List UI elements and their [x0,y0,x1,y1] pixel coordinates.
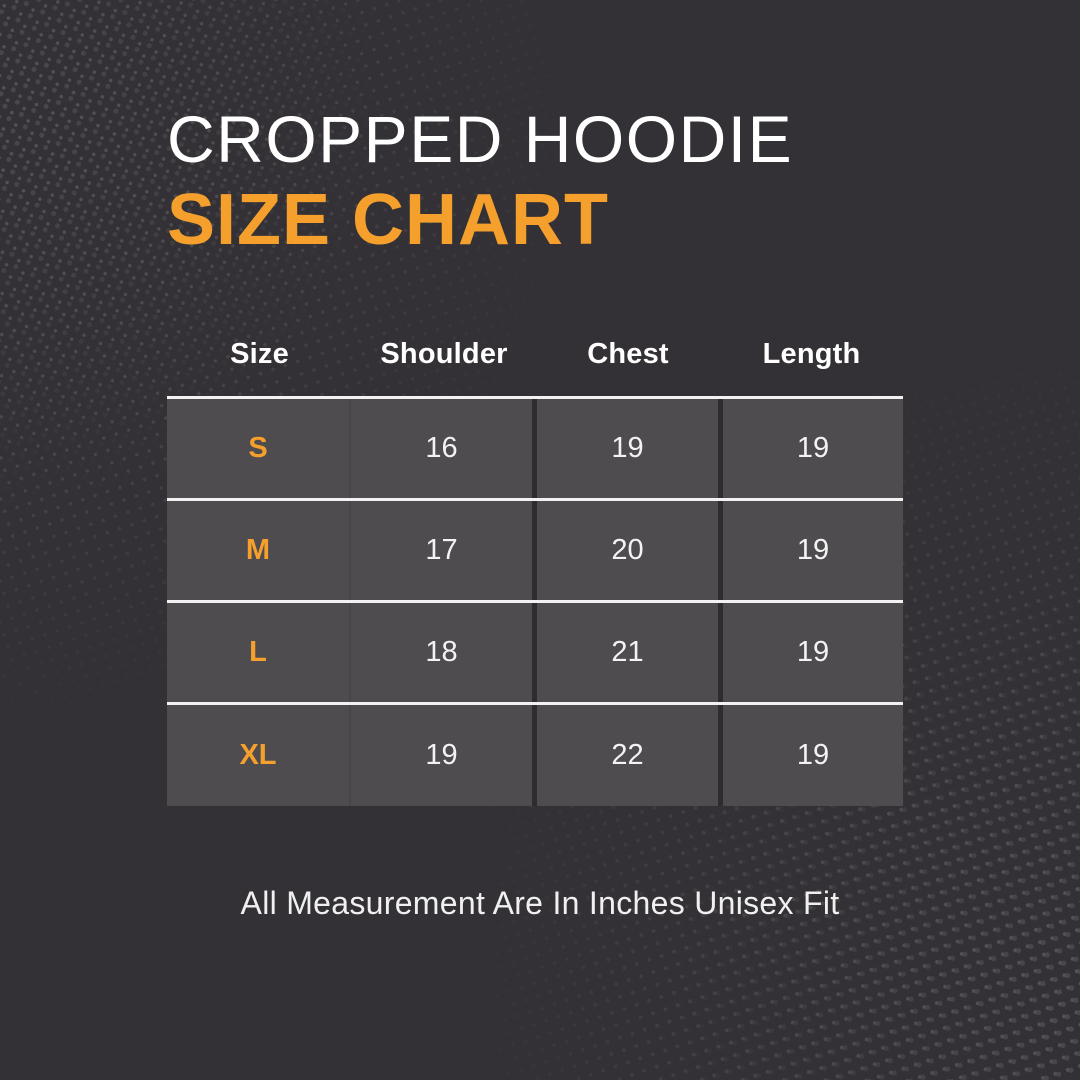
table-row: XL 19 22 19 [167,705,903,806]
cell-chest: 19 [532,399,718,498]
title-size-chart: SIZE CHART [167,184,1027,256]
page-title: CROPPED HOODIE SIZE CHART [167,106,1027,256]
cell-length: 19 [718,705,903,806]
column-header-size: Size [167,338,352,371]
cell-shoulder: 17 [349,501,532,600]
cell-chest: 22 [532,705,718,806]
size-chart-table: Size Shoulder Chest Length S 16 19 19 M … [167,312,903,806]
table-row: S 16 19 19 [167,399,903,501]
cell-chest: 20 [532,501,718,600]
column-header-length: Length [720,338,903,371]
cell-shoulder: 18 [349,603,532,702]
cell-size: M [167,501,349,600]
cell-size: L [167,603,349,702]
cell-shoulder: 19 [349,705,532,806]
cell-chest: 21 [532,603,718,702]
cell-length: 19 [718,399,903,498]
table-header-row: Size Shoulder Chest Length [167,312,903,396]
table-row: L 18 21 19 [167,603,903,705]
column-header-shoulder: Shoulder [352,338,536,371]
table-row: M 17 20 19 [167,501,903,603]
title-product-name: CROPPED HOODIE [167,106,1027,172]
size-chart-poster: CROPPED HOODIE SIZE CHART Size Shoulder … [0,0,1080,1080]
cell-shoulder: 16 [349,399,532,498]
table-body: S 16 19 19 M 17 20 19 L 18 21 19 [167,396,903,806]
measurement-note: All Measurement Are In Inches Unisex Fit [0,885,1080,922]
cell-size: S [167,399,349,498]
cell-length: 19 [718,501,903,600]
column-header-chest: Chest [536,338,720,371]
cell-size: XL [167,705,349,806]
cell-length: 19 [718,603,903,702]
